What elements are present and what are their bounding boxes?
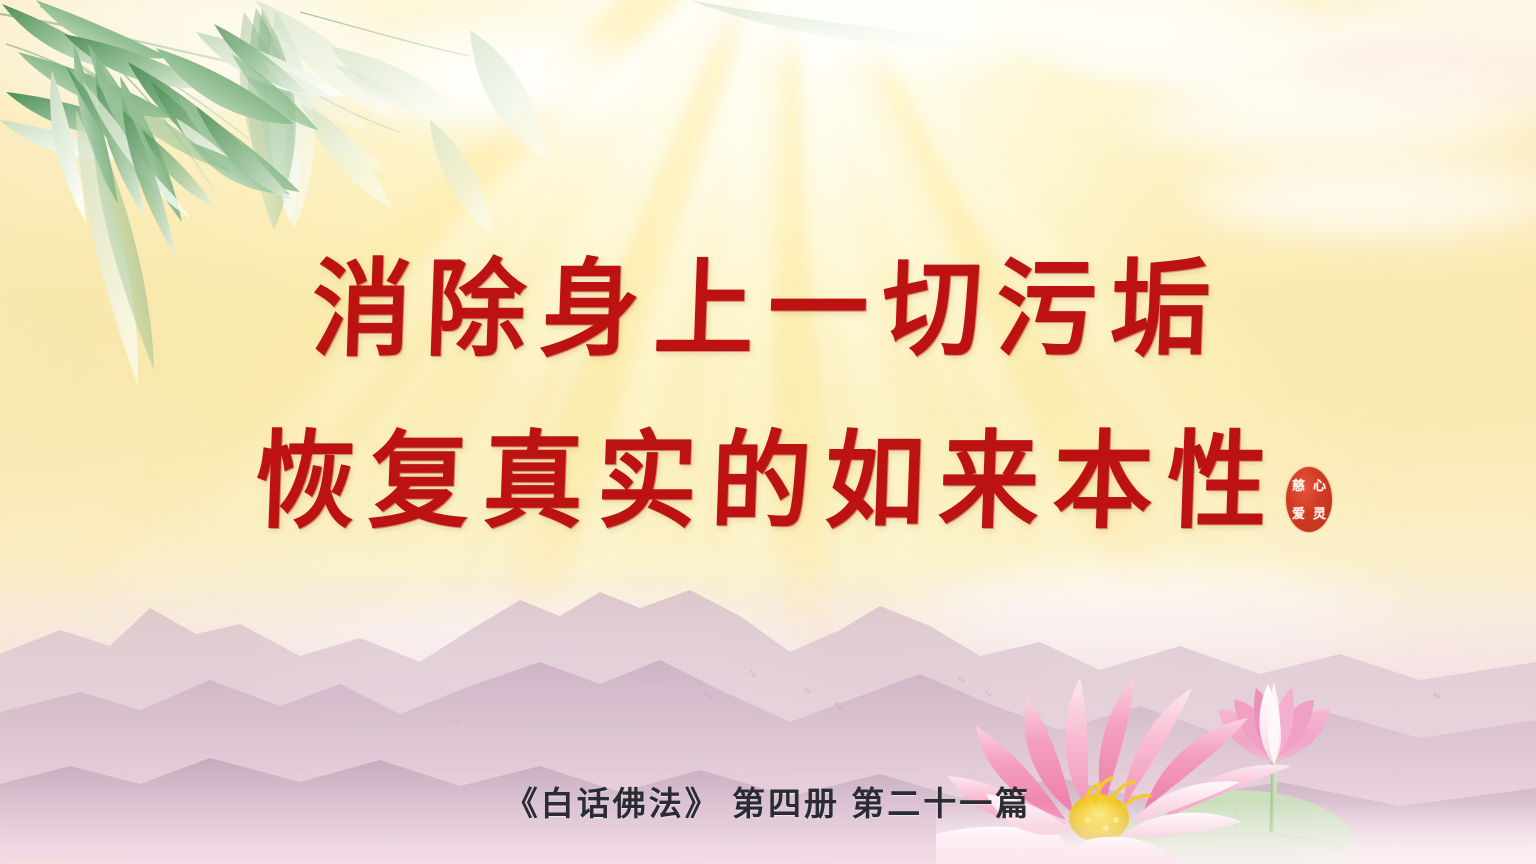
poster-canvas: ∿ ∿ ∿ ∿ ∿ ∿ ∿ ∿ [0,0,1536,864]
seal-stamp: 慈 心 爱 灵 [1286,467,1332,532]
seal-char-4: 灵 [1313,507,1326,520]
seal-char-2: 爱 [1292,507,1305,520]
footer-block: 《白话佛法》 第四册 第二十一篇 [0,777,1536,825]
seal-char-1: 慈 [1292,479,1305,492]
source-citation: 《白话佛法》 第四册 第二十一篇 [505,777,1032,825]
seal-char-3: 心 [1313,479,1326,492]
lotus-decoration [936,634,1536,864]
title-line-1: 消除身上一切污垢 [0,232,1536,391]
